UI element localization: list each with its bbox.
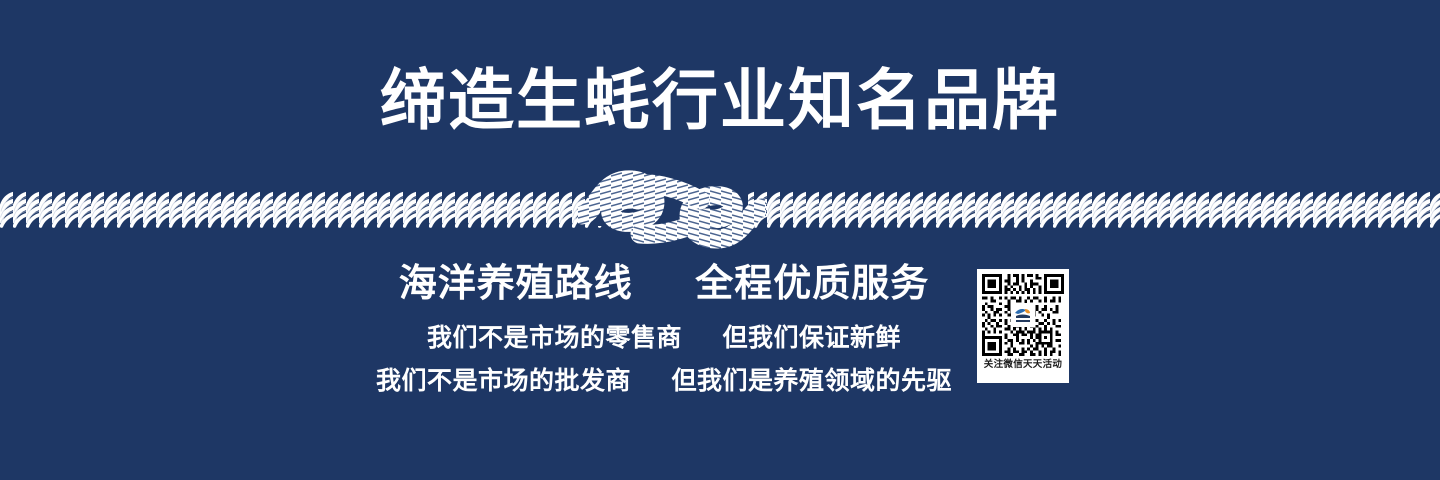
- body-line-2-left: 我们不是市场的批发商: [376, 366, 631, 395]
- qr-panel[interactable]: 关注微信天天活动: [977, 269, 1069, 383]
- body-line-1-left: 我们不是市场的零售商: [427, 323, 682, 352]
- body-line-1-right: 但我们保证新鲜: [722, 323, 901, 352]
- body-line-2: 我们不是市场的批发商 但我们是养殖领域的先驱: [0, 368, 1440, 393]
- subheading-right: 全程优质服务: [695, 261, 929, 305]
- page-title: 缔造生蚝行业知名品牌: [0, 68, 1440, 134]
- subheading: 海洋养殖路线 全程优质服务: [0, 264, 1440, 302]
- qr-code[interactable]: [982, 274, 1064, 356]
- subheading-left: 海洋养殖路线: [399, 261, 633, 305]
- rope-divider: [0, 160, 1440, 256]
- promo-banner: 缔造生蚝行业知名品牌: [0, 0, 1440, 480]
- body-line-1: 我们不是市场的零售商 但我们保证新鲜: [0, 325, 1440, 350]
- body-line-2-right: 但我们是养殖领域的先驱: [671, 366, 952, 395]
- qr-caption: 关注微信天天活动: [984, 358, 1062, 372]
- qr-center-logo: [1011, 303, 1035, 327]
- brand-mark-icon: [1012, 304, 1034, 326]
- rope-knot-icon: [578, 160, 766, 256]
